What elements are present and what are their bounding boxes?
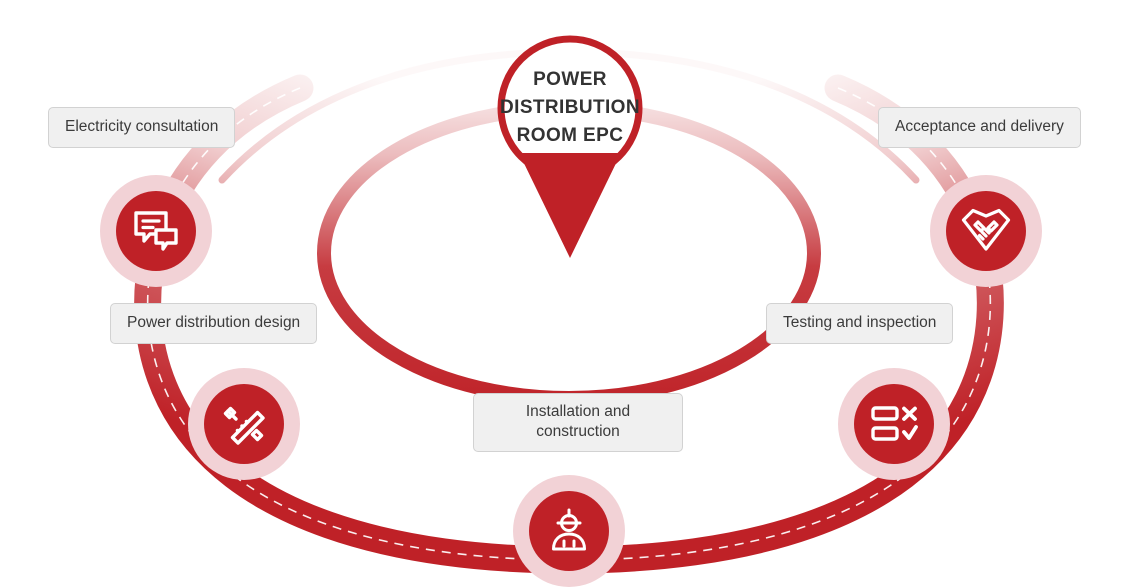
pin-title-line-1: POWER bbox=[533, 66, 607, 94]
step-label-4[interactable]: Testing and inspection bbox=[766, 303, 953, 344]
step-label-3[interactable]: Installation and construction bbox=[473, 393, 683, 452]
chat-bubbles-icon bbox=[133, 210, 179, 252]
step-node-5-circle bbox=[946, 191, 1026, 271]
step-label-2[interactable]: Power distribution design bbox=[110, 303, 317, 344]
step-node-2-circle bbox=[204, 384, 284, 464]
step-node-2[interactable] bbox=[188, 368, 300, 480]
step-node-3[interactable] bbox=[513, 475, 625, 587]
pin-title-line-2: DISTRIBUTION bbox=[500, 94, 640, 122]
step-node-4-circle bbox=[854, 384, 934, 464]
handshake-icon bbox=[961, 208, 1011, 254]
pin-title-line-3: ROOM EPC bbox=[517, 122, 624, 150]
checklist-icon bbox=[870, 404, 918, 444]
pin-title: POWER DISTRIBUTION ROOM EPC bbox=[494, 32, 646, 184]
step-label-1[interactable]: Electricity consultation bbox=[48, 107, 235, 148]
step-node-3-circle bbox=[529, 491, 609, 571]
step-node-1-circle bbox=[116, 191, 196, 271]
step-node-4[interactable] bbox=[838, 368, 950, 480]
step-node-5[interactable] bbox=[930, 175, 1042, 287]
process-diagram: POWER DISTRIBUTION ROOM EPC bbox=[0, 0, 1139, 587]
center-pin: POWER DISTRIBUTION ROOM EPC bbox=[494, 32, 646, 264]
ruler-pencil-icon bbox=[220, 400, 268, 448]
construction-worker-icon bbox=[545, 507, 593, 555]
step-label-5[interactable]: Acceptance and delivery bbox=[878, 107, 1081, 148]
step-node-1[interactable] bbox=[100, 175, 212, 287]
